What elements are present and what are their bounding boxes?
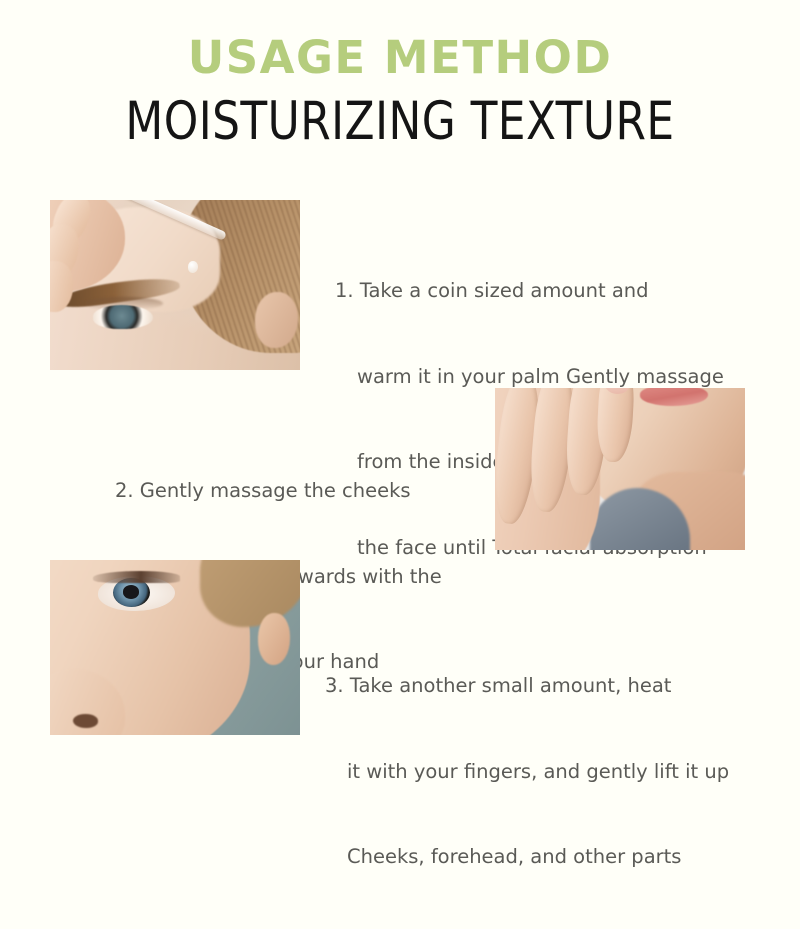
usage-method-infographic: USAGE METHOD MOISTURIZING TEXTURE 1. Tak… <box>0 0 800 800</box>
photo-3-layers <box>50 560 300 735</box>
step-2-photo-fingers-cheek <box>495 388 745 550</box>
step-1-line-2: warm it in your palm Gently massage <box>335 363 724 392</box>
step-1-line-1: 1. Take a coin sized amount and <box>335 277 724 306</box>
step-3-instruction: 3. Take another small amount, heat it wi… <box>325 615 729 929</box>
photo-1-layers <box>50 200 300 370</box>
photo-1-ear <box>255 292 298 348</box>
photo-3-ear <box>258 613 291 666</box>
photo-3-eyelashes <box>93 571 181 583</box>
photo-2-layers <box>495 388 745 550</box>
photo-3-nostril <box>73 714 98 728</box>
step-3-line-3: Cheeks, forehead, and other parts <box>325 843 729 872</box>
page-title-primary: USAGE METHOD <box>0 34 800 81</box>
step-3-line-1: 3. Take another small amount, heat <box>325 672 729 701</box>
photo-3-pupil <box>123 585 139 598</box>
step-1-photo-dropper-forehead <box>50 200 300 370</box>
photo-1-eye <box>93 305 153 329</box>
step-3-line-2: it with your fingers, and gently lift it… <box>325 758 729 787</box>
heading-block: USAGE METHOD MOISTURIZING TEXTURE <box>0 34 800 154</box>
step-3-photo-eye-face <box>50 560 300 735</box>
page-title-secondary: MOISTURIZING TEXTURE <box>32 91 768 154</box>
photo-1-serum-drop <box>188 261 198 273</box>
step-2-line-1: 2. Gently massage the cheeks <box>115 477 442 506</box>
